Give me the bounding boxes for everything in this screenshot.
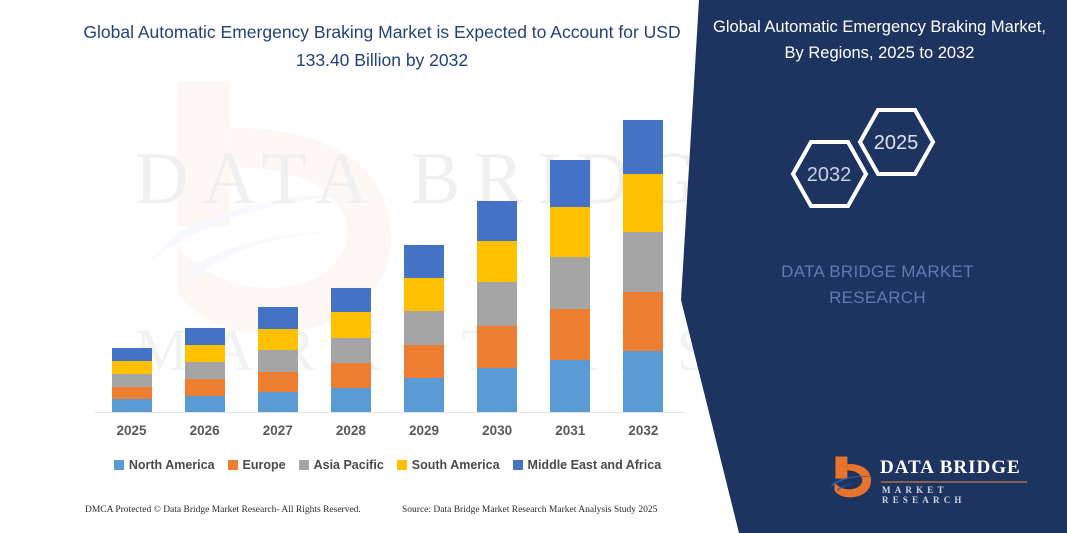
x-axis-tick-label: 2028 <box>321 423 381 438</box>
brand-logo-name-top: DATA BRIDGE <box>880 457 1021 479</box>
x-axis-tick-label: 2026 <box>175 423 235 438</box>
x-axis-tick-label: 2025 <box>102 423 162 438</box>
bar-segment[interactable] <box>185 396 225 412</box>
bar-segment[interactable] <box>185 328 225 345</box>
bar-segment[interactable] <box>550 309 590 360</box>
bar-segment[interactable] <box>623 351 663 412</box>
bar-segment[interactable] <box>404 345 444 378</box>
bar-segment[interactable] <box>623 174 663 231</box>
bar-segment[interactable] <box>477 282 517 326</box>
bar-segment[interactable] <box>550 207 590 257</box>
infographic-canvas: DATA BRIDGE MARKET RESEARCH Global Autom… <box>0 0 1067 533</box>
legend-swatch <box>299 460 309 470</box>
panel-brand-text: DATA BRIDGE MARKET RESEARCH <box>705 259 1050 311</box>
panel-brand-line2: RESEARCH <box>705 285 1050 311</box>
bar-segment[interactable] <box>258 372 298 392</box>
bar-column[interactable] <box>185 328 225 412</box>
bar-segment[interactable] <box>331 288 371 312</box>
legend-label: Asia Pacific <box>314 458 384 472</box>
brand-logo-mark-icon <box>829 454 875 506</box>
bar-segment[interactable] <box>404 378 444 412</box>
bar-column[interactable] <box>258 307 298 412</box>
bar-segment[interactable] <box>623 292 663 351</box>
x-axis-tick-label: 2027 <box>248 423 308 438</box>
hexagon-group: 2025 2032 <box>775 98 955 218</box>
hexagon-2032-label: 2032 <box>807 164 852 186</box>
bar-segment[interactable] <box>404 278 444 311</box>
bar-segment[interactable] <box>258 350 298 371</box>
chart-title: Global Automatic Emergency Braking Marke… <box>62 18 702 74</box>
legend-label: South America <box>412 458 500 472</box>
x-axis-tick-label: 2030 <box>467 423 527 438</box>
bar-column[interactable] <box>331 288 371 412</box>
bar-column[interactable] <box>112 348 152 412</box>
bar-segment[interactable] <box>550 160 590 207</box>
bar-column[interactable] <box>477 201 517 412</box>
bar-segment[interactable] <box>623 232 663 293</box>
bar-column[interactable] <box>623 120 663 412</box>
bar-segment[interactable] <box>550 257 590 309</box>
bar-segment[interactable] <box>477 326 517 368</box>
brand-logo-name-bottom: MARKET RESEARCH <box>882 485 1037 505</box>
bar-segment[interactable] <box>185 345 225 362</box>
bar-segment[interactable] <box>185 379 225 396</box>
bar-segment[interactable] <box>404 311 444 345</box>
legend-swatch <box>114 460 124 470</box>
legend-item[interactable]: North America <box>114 458 215 472</box>
x-axis-labels: 20252026202720282029203020312032 <box>95 423 680 445</box>
legend-item[interactable]: Middle East and Africa <box>513 458 662 472</box>
bar-segment[interactable] <box>112 399 152 412</box>
chart-baseline <box>95 412 685 413</box>
bar-segment[interactable] <box>258 307 298 329</box>
bar-segment[interactable] <box>477 201 517 241</box>
footer-copyright: DMCA Protected © Data Bridge Market Rese… <box>85 505 361 515</box>
bar-segment[interactable] <box>112 374 152 387</box>
bar-segment[interactable] <box>550 360 590 412</box>
bar-segment[interactable] <box>258 329 298 350</box>
legend-swatch <box>397 460 407 470</box>
legend-swatch <box>513 460 523 470</box>
panel-brand-line1: DATA BRIDGE MARKET <box>705 259 1050 285</box>
bar-column[interactable] <box>550 160 590 412</box>
bar-segment[interactable] <box>331 338 371 363</box>
x-axis-tick-label: 2029 <box>394 423 454 438</box>
bar-segment[interactable] <box>477 368 517 412</box>
chart-region: Global Automatic Emergency Braking Marke… <box>0 0 712 533</box>
legend-item[interactable]: Asia Pacific <box>299 458 384 472</box>
x-axis-tick-label: 2031 <box>540 423 600 438</box>
legend-label: Middle East and Africa <box>528 458 662 472</box>
side-panel: Global Automatic Emergency Braking Marke… <box>667 0 1067 533</box>
bar-segment[interactable] <box>623 120 663 174</box>
bar-segment[interactable] <box>112 348 152 361</box>
legend-label: North America <box>129 458 215 472</box>
stacked-bar-plot <box>95 120 680 412</box>
brand-logo-rule <box>881 481 1027 483</box>
bar-segment[interactable] <box>112 387 152 400</box>
legend-swatch <box>228 460 238 470</box>
bar-segment[interactable] <box>331 312 371 337</box>
bar-segment[interactable] <box>331 363 371 387</box>
legend-item[interactable]: Europe <box>228 458 286 472</box>
hexagon-2025-label: 2025 <box>874 132 919 154</box>
bar-column[interactable] <box>404 245 444 412</box>
chart-legend: North AmericaEuropeAsia PacificSouth Ame… <box>95 455 680 475</box>
bar-segment[interactable] <box>185 362 225 379</box>
bar-segment[interactable] <box>331 388 371 412</box>
panel-title: Global Automatic Emergency Braking Marke… <box>707 14 1052 66</box>
legend-item[interactable]: South America <box>397 458 500 472</box>
bar-segment[interactable] <box>404 245 444 278</box>
legend-label: Europe <box>243 458 286 472</box>
bar-segment[interactable] <box>112 361 152 374</box>
brand-logo: DATA BRIDGE MARKET RESEARCH <box>837 452 1037 514</box>
x-axis-tick-label: 2032 <box>613 423 673 438</box>
footer-source: Source: Data Bridge Market Research Mark… <box>402 505 657 515</box>
footer: DMCA Protected © Data Bridge Market Rese… <box>0 505 712 525</box>
bar-segment[interactable] <box>258 392 298 412</box>
bar-segment[interactable] <box>477 241 517 282</box>
